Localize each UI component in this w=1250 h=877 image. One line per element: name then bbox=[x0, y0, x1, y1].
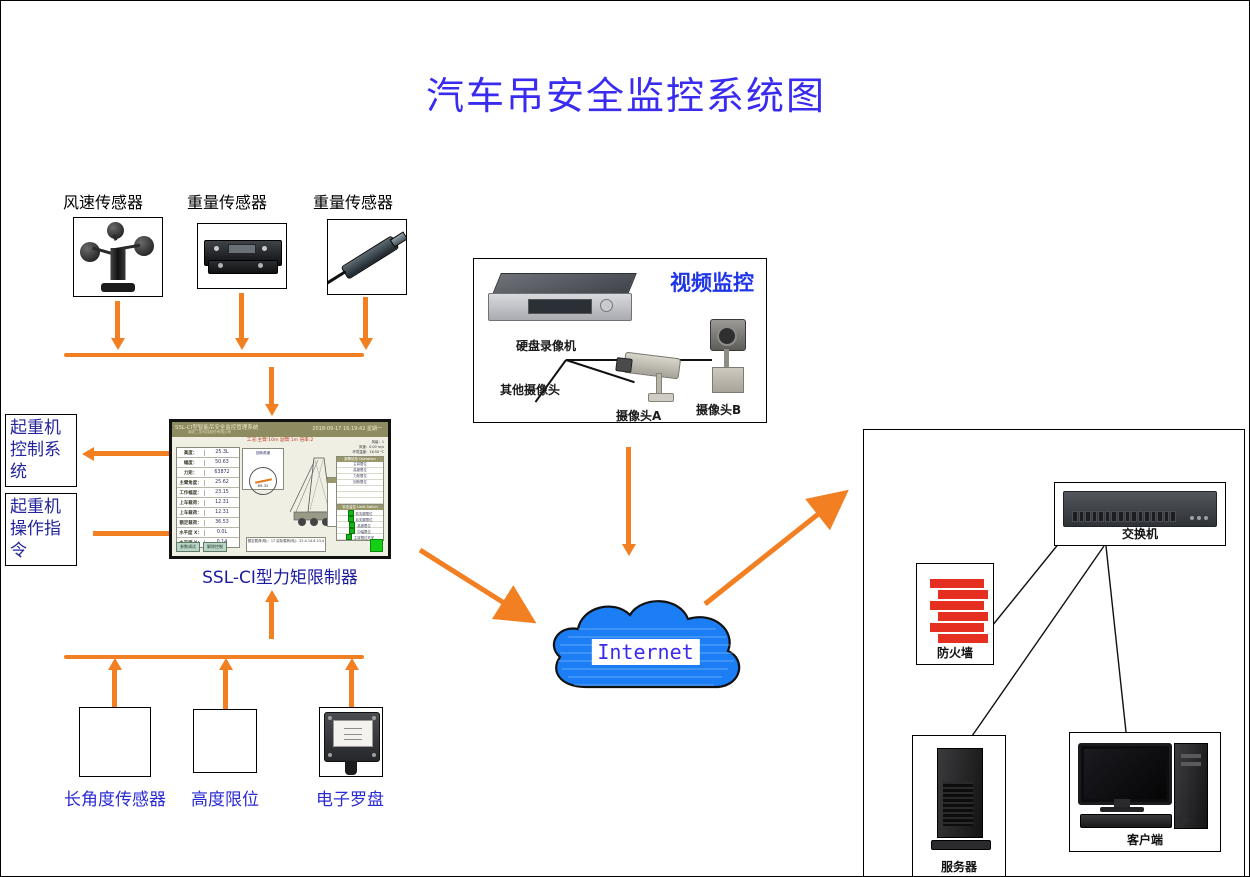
gauge-value: 89.32 bbox=[243, 483, 283, 488]
crane-operation-command-box[interactable]: 起重机操作指令 bbox=[5, 493, 77, 566]
row-key: 水平度 X： bbox=[177, 530, 205, 536]
screen-button-bar[interactable]: 参数调试 解除控制 bbox=[176, 542, 227, 552]
table-row: 额定载荷：36.53 bbox=[177, 518, 239, 528]
table-row: 高度：25.3L bbox=[177, 448, 239, 458]
row-key: 幅度： bbox=[177, 460, 205, 466]
other-cameras-label: 其他摄像头 bbox=[500, 381, 560, 398]
internet-label: Internet bbox=[591, 639, 699, 665]
row-key: 工作幅度： bbox=[177, 490, 205, 496]
table-row: 幅度：50.63 bbox=[177, 458, 239, 468]
arrow-controller-to-internet bbox=[416, 546, 546, 636]
ambient-temperature: 环境温度：16.50 ℃ bbox=[330, 450, 384, 455]
arrow-weight2-to-bus bbox=[363, 297, 368, 339]
server-device[interactable]: 服务器 bbox=[912, 735, 1006, 877]
gauge-dial bbox=[249, 467, 277, 495]
row-value: 50.63 bbox=[205, 460, 239, 465]
table-row: 力矩：63872 bbox=[177, 468, 239, 478]
rotation-gauge: 回转角度 89.32 bbox=[242, 448, 284, 490]
client-device[interactable]: 客户端 bbox=[1069, 732, 1221, 852]
load-status-bar: 额定载荷(吨)：17 实际载荷(吨)：22.4 14.6 23.4 bbox=[246, 537, 326, 552]
row-key: 高度： bbox=[177, 450, 205, 456]
electronic-compass-icon bbox=[319, 707, 383, 777]
arrow-command-to-controller bbox=[93, 531, 171, 536]
arrow-weight1-to-bus bbox=[239, 293, 244, 339]
row-key: 力矩： bbox=[177, 470, 205, 476]
release-control-button[interactable]: 解除控制 bbox=[203, 542, 227, 552]
tension-sensor-icon bbox=[327, 219, 407, 295]
arrow-wind-to-bus bbox=[115, 301, 120, 339]
network-switch-icon bbox=[1063, 491, 1217, 527]
screen-header: SSL-CI型智能吊安全监控管理系统 湖北二凯科技股份有限公司 2018-09-… bbox=[172, 422, 388, 437]
video-surveillance-panel: 视频监控 硬盘录像机 摄像头A 摄像头B 其他摄像头 bbox=[473, 258, 767, 423]
server-label: 服务器 bbox=[913, 858, 1005, 875]
arrow-bus-to-controller bbox=[269, 367, 274, 405]
torque-limiter-device[interactable]: SSL-CI型智能吊安全监控管理系统 湖北二凯科技股份有限公司 2018-09-… bbox=[169, 419, 391, 559]
ok-indicator bbox=[370, 539, 383, 552]
firewall-label: 防火墙 bbox=[917, 644, 993, 661]
remote-data-center-panel: 交换机 防火墙 服务器 bbox=[863, 429, 1245, 877]
environment-info: 风级：1 风速：0.00 m/s 环境温度：16.50 ℃ bbox=[330, 440, 384, 455]
table-row: 主臂角度：25.62 bbox=[177, 478, 239, 488]
row-key: 上车载荷： bbox=[177, 500, 205, 506]
desktop-client-icon bbox=[1078, 743, 1208, 835]
dvr-icon bbox=[488, 273, 638, 333]
row-value: 36.53 bbox=[205, 520, 239, 525]
screen-header-subtitle: 湖北二凯科技股份有限公司 bbox=[188, 430, 231, 435]
sensor-label-height-limit: 高度限位 bbox=[179, 785, 271, 810]
dvr-label: 硬盘录像机 bbox=[516, 337, 576, 354]
arrow-controller-to-control-system bbox=[93, 451, 171, 456]
row-value: 63872 bbox=[205, 470, 239, 475]
sensor-label-angle: 长角度传感器 bbox=[56, 785, 174, 810]
limit-switch-panel: 安全监控 Limit Switch 前支腿限位 后支腿限位 高度限位 中幅限位 … bbox=[336, 504, 384, 541]
arrow-height-limit-to-bus bbox=[223, 669, 228, 709]
camera-b-icon bbox=[706, 319, 752, 405]
switch-ports bbox=[1072, 511, 1176, 522]
network-switch-device[interactable]: 交换机 bbox=[1054, 482, 1226, 546]
controller-screen[interactable]: SSL-CI型智能吊安全监控管理系统 湖北二凯科技股份有限公司 2018-09-… bbox=[172, 422, 388, 556]
table-row: 水平度 X：0.0L bbox=[177, 528, 239, 538]
arrow-bottom-bus-to-controller bbox=[269, 601, 274, 639]
page-title: 汽车吊安全监控系统图 bbox=[1, 65, 1250, 120]
row-value: 12.31 bbox=[205, 500, 239, 505]
switch-leds bbox=[1190, 516, 1208, 520]
row-key: 额定载荷： bbox=[177, 520, 205, 526]
top-sensor-bus bbox=[64, 353, 364, 357]
arrow-angle-sensor-to-bus bbox=[112, 669, 117, 709]
arrow-video-to-internet bbox=[626, 447, 631, 545]
diagram-canvas: 汽车吊安全监控系统图 风速传感器 重量传感器 重量传感器 bbox=[0, 0, 1250, 877]
row-value: 23.15 bbox=[205, 490, 239, 495]
height-limit-icon bbox=[193, 709, 257, 773]
table-row: 上车载荷：12.31 bbox=[177, 498, 239, 508]
sensor-label-wind-speed: 风速传感器 bbox=[63, 189, 173, 213]
table-row: 工作幅度：23.15 bbox=[177, 488, 239, 498]
row-value: 0.0L bbox=[205, 530, 239, 535]
arrow-compass-to-bus bbox=[349, 669, 354, 707]
crane-control-system-box[interactable]: 起重机控制系统 bbox=[5, 414, 77, 487]
screen-datetime: 2018-09-17 16:19:42 星期一 bbox=[312, 425, 382, 432]
sensor-label-compass: 电子罗盘 bbox=[303, 785, 397, 810]
camera-b-label: 摄像头B bbox=[696, 401, 741, 418]
table-row: 上车载荷：12.31 bbox=[177, 508, 239, 518]
firewall-icon bbox=[927, 574, 993, 648]
angle-sensor-icon bbox=[79, 707, 151, 777]
row-value: 25.3L bbox=[205, 450, 239, 455]
parameter-debug-button[interactable]: 参数调试 bbox=[176, 542, 200, 552]
row-value: 12.31 bbox=[205, 510, 239, 515]
sensor-label-weight-1: 重量传感器 bbox=[187, 189, 297, 213]
firewall-device[interactable]: 防火墙 bbox=[916, 563, 994, 665]
internet-cloud: Internet bbox=[538, 589, 753, 714]
camera-a-label: 摄像头A bbox=[616, 407, 661, 424]
row-key: 主臂角度： bbox=[177, 480, 205, 486]
video-panel-title: 视频监控 bbox=[670, 267, 754, 297]
row-value: 25.62 bbox=[205, 480, 239, 485]
anemometer-icon bbox=[73, 217, 163, 297]
gauge-title: 回转角度 bbox=[243, 451, 283, 456]
status-indicator bbox=[346, 534, 352, 540]
switch-label: 交换机 bbox=[1055, 525, 1225, 542]
controller-caption: SSL-CI型力矩限制器 bbox=[169, 563, 391, 588]
client-label: 客户端 bbox=[1070, 831, 1220, 848]
load-pin-sensor-icon bbox=[197, 223, 287, 289]
sensor-label-weight-2: 重量传感器 bbox=[313, 189, 423, 213]
camera-a-icon bbox=[624, 351, 698, 405]
server-icon bbox=[931, 748, 989, 844]
row-key: 上车载荷： bbox=[177, 510, 205, 516]
measurement-table: 高度：25.3L 幅度：50.63 力矩：63872 主臂角度：25.62 工作… bbox=[176, 447, 240, 548]
alarm-status-panel: 报警状态 Operation 主臂限位 高度限位 力矩限位 回转限位 bbox=[336, 456, 384, 505]
